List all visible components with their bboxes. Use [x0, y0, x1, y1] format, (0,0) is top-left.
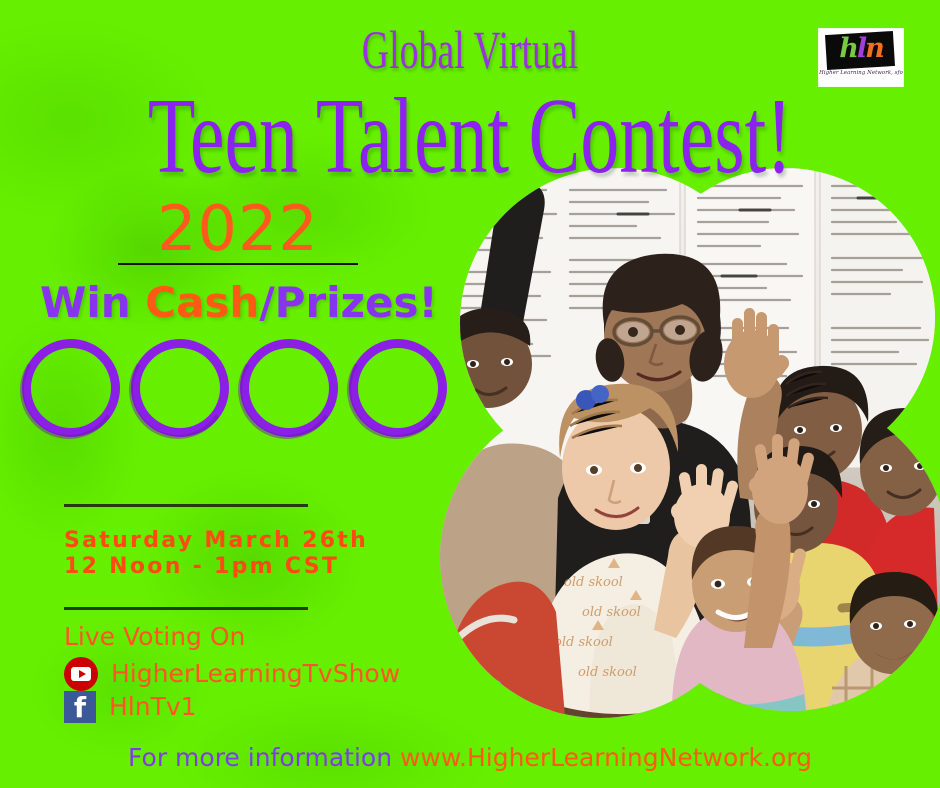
prize-word-prizes: /Prizes!	[259, 278, 437, 327]
logo-letter-l: l	[857, 33, 865, 64]
footer-lead: For more information	[128, 743, 400, 772]
subtitle: Global Virtual	[141, 20, 799, 80]
divider-under-year	[118, 263, 358, 265]
ring-3-icon	[240, 339, 338, 437]
prize-word-cash: Cash	[145, 278, 259, 327]
logo-letter-h: h	[839, 33, 857, 64]
social-row-youtube[interactable]: HigherLearningTvShow	[64, 657, 400, 691]
play-triangle-icon	[79, 670, 86, 678]
ring-1-icon	[22, 339, 120, 437]
flyer-canvas: old skool old skool old skool old skool	[0, 0, 940, 788]
event-time: 12 Noon - 1pm CST	[64, 554, 464, 580]
ring-4-icon	[349, 339, 447, 437]
divider-below-date	[64, 607, 308, 610]
footer-url[interactable]: www.HigherLearningNetwork.org	[400, 743, 812, 772]
logo-letters: hln	[819, 31, 903, 67]
year-label: 2022	[88, 196, 388, 262]
youtube-screen	[71, 667, 91, 681]
youtube-icon[interactable]	[64, 657, 98, 691]
logo-tagline: Higher Learning Network, sfo	[819, 70, 903, 76]
ring-2-icon	[131, 339, 229, 437]
facebook-icon[interactable]: f	[64, 691, 96, 723]
photo-clip: old skool old skool old skool old skool	[440, 168, 940, 728]
youtube-handle[interactable]: HigherLearningTvShow	[111, 659, 400, 689]
page-title: Teen Talent Contest!	[132, 78, 809, 196]
facebook-handle[interactable]: HlnTv1	[109, 692, 197, 722]
logo-letter-n: n	[865, 33, 883, 64]
ring-decorations	[18, 336, 448, 441]
event-datetime: Saturday March 26th 12 Noon - 1pm CST	[64, 528, 464, 580]
photo-collage: old skool old skool old skool old skool	[440, 168, 940, 728]
footer-info: For more information www.HigherLearningN…	[0, 742, 940, 774]
prize-tagline: Win Cash/Prizes!	[40, 278, 440, 328]
divider-above-date	[64, 504, 308, 507]
live-voting-heading: Live Voting On	[64, 622, 245, 652]
classroom-photo: old skool old skool old skool old skool	[440, 168, 940, 728]
hln-logo: hln Higher Learning Network, sfo	[819, 29, 903, 86]
prize-word-win: Win	[40, 278, 145, 327]
event-date: Saturday March 26th	[64, 528, 464, 554]
social-row-facebook[interactable]: f HlnTv1	[64, 691, 197, 723]
